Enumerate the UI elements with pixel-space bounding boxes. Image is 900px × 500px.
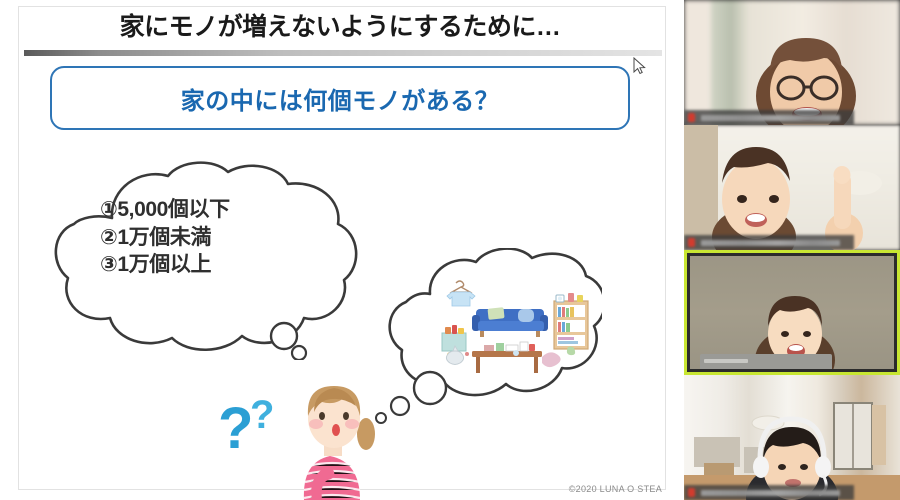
participant-2-name-bar (684, 235, 854, 250)
mic-muted-icon (688, 113, 695, 122)
participant-1-name-label (701, 115, 840, 121)
participant-4-name-bar (684, 485, 854, 500)
bookshelf-icon (554, 293, 588, 349)
mic-muted-icon (688, 488, 695, 497)
participant-3-avatar (690, 256, 894, 369)
copyright-text: ©2020 LUNA O STEA (569, 484, 662, 494)
answer-option-3: ③1万個以上 (100, 251, 330, 279)
cluttered-room-illustration (432, 275, 592, 380)
video-tile-participant-3[interactable] (684, 250, 900, 375)
mouse-cursor (633, 57, 647, 75)
answer-options: ①5,000個以下 ②1万個未満 ③1万個以上 (100, 196, 330, 279)
participant-4-name-label (701, 490, 840, 496)
video-tile-participant-2[interactable] (684, 125, 900, 250)
mic-muted-icon (688, 238, 695, 247)
answer-option-1: ①5,000個以下 (100, 196, 330, 224)
video-tile-participant-4[interactable] (684, 375, 900, 500)
thinking-character-illustration (278, 378, 388, 500)
coffee-table-icon (472, 342, 542, 373)
participant-1-name-bar (684, 110, 854, 125)
slide-title: 家にモノが増えないようにするために… (60, 8, 620, 42)
question-box-text: 家の中には何個モノがある？ (181, 81, 500, 116)
participant-2-avatar (684, 125, 900, 250)
sofa-icon (472, 307, 548, 337)
participant-video-rail (684, 0, 900, 500)
video-tile-participant-1[interactable] (684, 0, 900, 125)
svg-text:?: ? (250, 393, 274, 437)
participant-4-avatar (684, 375, 900, 500)
answer-thought-bubble: ①5,000個以下 ②1万個未満 ③1万個以上 (52, 160, 362, 360)
title-divider (24, 50, 662, 56)
participant-2-name-label (701, 240, 840, 246)
question-box: 家の中には何個モノがある？ (50, 66, 630, 130)
svg-text:?: ? (218, 396, 253, 461)
answer-option-2: ②1万個未満 (100, 224, 330, 252)
screen-share-view: 家にモノが増えないようにするために… 家の中には何個モノがある？ ①5,000個… (0, 0, 900, 500)
presentation-slide: 家にモノが増えないようにするために… 家の中には何個モノがある？ ①5,000個… (0, 0, 684, 500)
hanging-shirt-icon (447, 281, 475, 306)
